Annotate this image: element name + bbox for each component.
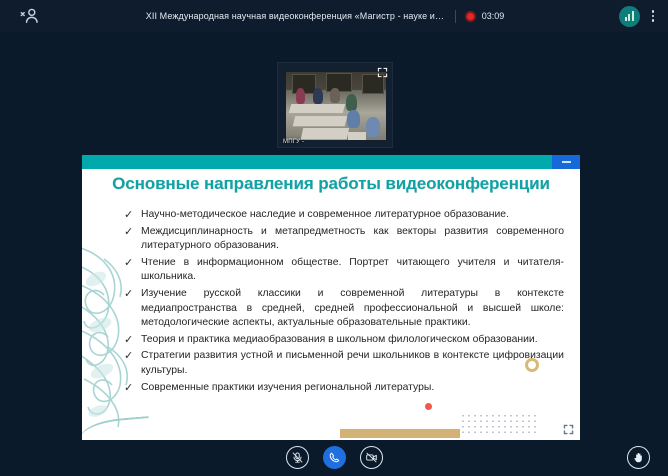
decorative-red-dot: [425, 403, 432, 410]
list-item: ✓ Научно-методическое наследие и совреме…: [124, 208, 564, 223]
participants-button[interactable]: [0, 7, 60, 25]
video-participant-label: МПГУ -: [283, 139, 304, 145]
video-thumbnail[interactable]: МПГУ -: [277, 62, 393, 148]
list-item: ✓ Стратегии развития устной и письменной…: [124, 349, 564, 378]
signal-bars-icon: [625, 11, 634, 21]
room-table: [289, 104, 346, 113]
list-item: ✓ Чтение в информационном обществе. Порт…: [124, 256, 564, 285]
check-icon: ✓: [124, 333, 134, 348]
top-bar-actions: [590, 6, 668, 27]
shared-slide[interactable]: Основные направления работы видеоконфере…: [82, 155, 580, 441]
list-item-text: Изучение русской классики и современной …: [141, 287, 564, 331]
list-item-text: Научно-методическое наследие и современн…: [141, 208, 564, 223]
list-item-text: Чтение в информационном обществе. Портре…: [141, 256, 564, 285]
decorative-arc: [82, 416, 151, 441]
divider: [455, 10, 456, 23]
room-person: [330, 88, 340, 103]
room-person: [313, 88, 323, 104]
more-options-button[interactable]: [650, 8, 657, 24]
meeting-title: XII Международная научная видеоконференц…: [146, 11, 446, 21]
hangup-button[interactable]: [323, 446, 346, 469]
top-bar: XII Международная научная видеоконференц…: [0, 0, 668, 32]
check-icon: ✓: [124, 287, 134, 302]
room-table: [293, 116, 347, 126]
microphone-muted-icon: [291, 451, 304, 464]
room-person: [347, 110, 360, 128]
mic-toggle-button[interactable]: [286, 446, 309, 469]
room-person: [346, 94, 357, 111]
list-item-text: Междисциплинарность и метапредметность к…: [141, 225, 564, 254]
minimize-icon: [562, 161, 571, 163]
room-table: [301, 128, 349, 139]
slide-header-bar: [82, 155, 580, 169]
list-item: ✓ Изучение русской классики и современно…: [124, 287, 564, 331]
expand-icon[interactable]: [377, 67, 388, 78]
bottom-bar: [0, 440, 668, 476]
recording-status: 03:09: [465, 11, 505, 22]
network-quality-button[interactable]: [619, 6, 640, 27]
list-item: ✓ Современные практики изучения регионал…: [124, 381, 564, 396]
camera-toggle-button[interactable]: [360, 446, 383, 469]
slide-bullet-list: ✓ Научно-методическое наследие и совреме…: [124, 208, 564, 397]
list-item: ✓ Теория и практика медиаобразования в ш…: [124, 333, 564, 348]
check-icon: ✓: [124, 349, 134, 364]
room-window: [326, 73, 352, 92]
list-item-text: Стратегии развития устной и письменной р…: [141, 349, 564, 378]
list-item-text: Современные практики изучения региональн…: [141, 381, 564, 396]
check-icon: ✓: [124, 256, 134, 271]
check-icon: ✓: [124, 225, 134, 240]
recording-timer: 03:09: [482, 11, 505, 21]
phone-icon: [328, 451, 341, 464]
more-vertical-icon: [652, 10, 655, 13]
video-conference-app: XII Международная научная видеоконференц…: [0, 0, 668, 476]
recording-indicator-icon: [465, 11, 476, 22]
video-feed: [286, 72, 386, 140]
call-controls: [0, 446, 668, 469]
room-person: [296, 88, 305, 104]
slide-title: Основные направления работы видеоконфере…: [82, 174, 580, 194]
raise-hand-icon: [632, 451, 645, 464]
room-table: [348, 132, 366, 140]
room-person: [366, 117, 380, 137]
list-item: ✓ Междисциплинарность и метапредметность…: [124, 225, 564, 254]
meeting-info: XII Международная научная видеоконференц…: [60, 10, 590, 23]
decorative-gold-bar: [340, 429, 460, 438]
camera-off-icon: [365, 451, 378, 464]
check-icon: ✓: [124, 208, 134, 223]
check-icon: ✓: [124, 381, 134, 396]
raise-hand-button[interactable]: [627, 446, 650, 469]
fullscreen-icon[interactable]: [562, 423, 575, 436]
add-person-icon: [19, 7, 41, 25]
minimize-button[interactable]: [552, 155, 580, 169]
list-item-text: Теория и практика медиаобразования в шко…: [141, 333, 564, 348]
decorative-dot-grid: [460, 413, 538, 435]
